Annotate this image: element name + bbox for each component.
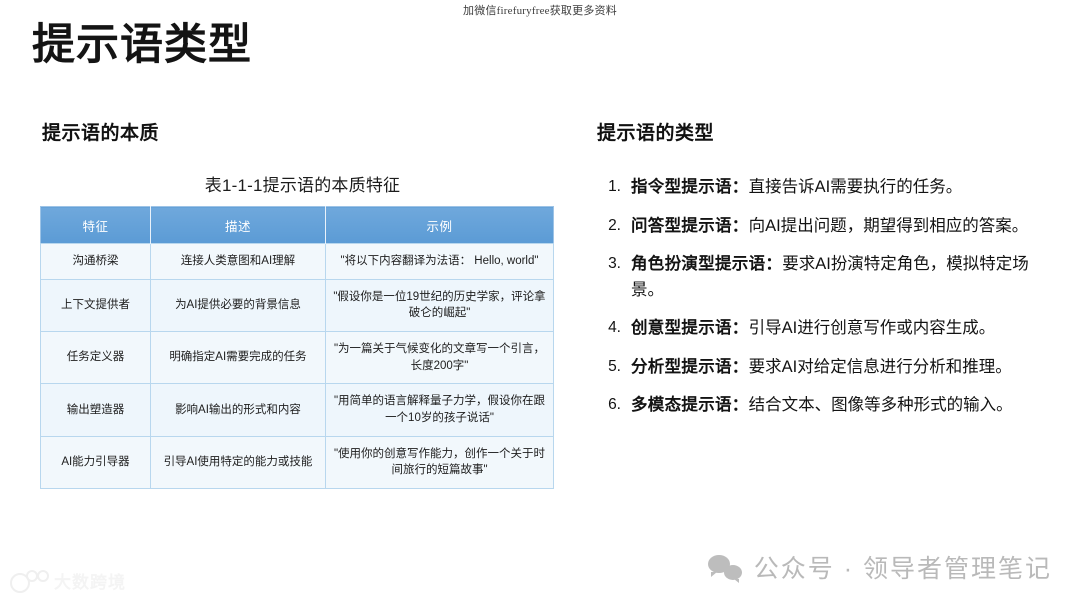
table-row: 输出塑造器 影响AI输出的形式和内容 "用简单的语言解释量子力学，假设你在跟一个… xyxy=(41,384,554,436)
footer-brand: 公众号 · 领导者管理笔记 xyxy=(708,549,1052,585)
list-item-term: 多模态提示语： xyxy=(631,396,749,414)
cell-example: "为一篇关于气候变化的文章写一个引言，长度200字" xyxy=(326,332,554,384)
table-caption: 表1-1-1提示语的本质特征 xyxy=(40,171,565,196)
cell-description: 影响AI输出的形式和内容 xyxy=(151,384,326,436)
wechat-icon xyxy=(708,554,742,580)
prompt-type-list: 1.指令型提示语：直接告诉AI需要执行的任务。 2.问答型提示语：向AI提出问题… xyxy=(595,175,1055,419)
list-item-term: 问答型提示语： xyxy=(631,217,749,235)
footer-brand-text: 公众号 · 领导者管理笔记 xyxy=(754,549,1052,585)
list-item-desc: 向AI提出问题，期望得到相应的答案。 xyxy=(749,217,1029,235)
table-header-row: 特征 描述 示例 xyxy=(41,207,554,244)
cell-description: 为AI提供必要的背景信息 xyxy=(151,279,326,331)
column-header-description: 描述 xyxy=(151,207,326,244)
list-item: 1.指令型提示语：直接告诉AI需要执行的任务。 xyxy=(595,175,1055,201)
table-row: AI能力引导器 引导AI使用特定的能力或技能 "使用你的创意写作能力，创作一个关… xyxy=(41,436,554,488)
list-item-desc: 要求AI对给定信息进行分析和推理。 xyxy=(749,358,1012,376)
cell-feature: 上下文提供者 xyxy=(41,279,151,331)
list-item-desc: 直接告诉AI需要执行的任务。 xyxy=(749,178,963,196)
table-row: 沟通桥梁 连接人类意图和AI理解 "将以下内容翻译为法语： Hello, wor… xyxy=(41,244,554,280)
list-item-number: 3. xyxy=(595,252,621,276)
column-header-feature: 特征 xyxy=(41,207,151,244)
list-item-number: 5. xyxy=(595,355,621,379)
left-column: 提示语的本质 表1-1-1提示语的本质特征 特征 描述 示例 沟通桥梁 连接人类… xyxy=(40,118,565,489)
cell-feature: 任务定义器 xyxy=(41,332,151,384)
list-item-number: 1. xyxy=(595,175,621,199)
cell-example: "将以下内容翻译为法语： Hello, world" xyxy=(326,244,554,280)
list-item-term: 指令型提示语： xyxy=(631,178,749,196)
cell-example: "假设你是一位19世纪的历史学家，评论拿破仑的崛起" xyxy=(326,279,554,331)
list-item: 3.角色扮演型提示语：要求AI扮演特定角色，模拟特定场景。 xyxy=(595,252,1055,303)
list-item-number: 6. xyxy=(595,393,621,417)
list-item-desc: 结合文本、图像等多种形式的输入。 xyxy=(749,396,1013,414)
essence-features-table: 特征 描述 示例 沟通桥梁 连接人类意图和AI理解 "将以下内容翻译为法语： H… xyxy=(40,206,554,489)
list-item: 2.问答型提示语：向AI提出问题，期望得到相应的答案。 xyxy=(595,214,1055,240)
cell-feature: 输出塑造器 xyxy=(41,384,151,436)
list-item: 4.创意型提示语：引导AI进行创意写作或内容生成。 xyxy=(595,316,1055,342)
left-section-heading: 提示语的本质 xyxy=(42,118,565,145)
list-item-term: 创意型提示语： xyxy=(631,319,749,337)
cell-description: 明确指定AI需要完成的任务 xyxy=(151,332,326,384)
table-row: 任务定义器 明确指定AI需要完成的任务 "为一篇关于气候变化的文章写一个引言，长… xyxy=(41,332,554,384)
table-row: 上下文提供者 为AI提供必要的背景信息 "假设你是一位19世纪的历史学家，评论拿… xyxy=(41,279,554,331)
list-item-term: 角色扮演型提示语： xyxy=(631,255,782,273)
cell-example: "用简单的语言解释量子力学，假设你在跟一个10岁的孩子说话" xyxy=(326,384,554,436)
cell-feature: 沟通桥梁 xyxy=(41,244,151,280)
dashukuajing-logo-icon xyxy=(10,570,48,592)
list-item: 5.分析型提示语：要求AI对给定信息进行分析和推理。 xyxy=(595,355,1055,381)
list-item: 6.多模态提示语：结合文本、图像等多种形式的输入。 xyxy=(595,393,1055,419)
list-item-term: 分析型提示语： xyxy=(631,358,749,376)
page-title: 提示语类型 xyxy=(32,22,252,69)
column-header-example: 示例 xyxy=(326,207,554,244)
corner-watermark-logo: 大数跨境 xyxy=(10,568,126,593)
list-item-desc: 引导AI进行创意写作或内容生成。 xyxy=(749,319,996,337)
right-section-heading: 提示语的类型 xyxy=(597,118,1055,145)
corner-logo-text: 大数跨境 xyxy=(54,568,126,593)
cell-description: 引导AI使用特定的能力或技能 xyxy=(151,436,326,488)
right-column: 提示语的类型 1.指令型提示语：直接告诉AI需要执行的任务。 2.问答型提示语：… xyxy=(595,118,1055,432)
cell-example: "使用你的创意写作能力，创作一个关于时间旅行的短篇故事" xyxy=(326,436,554,488)
top-watermark-text: 加微信firefuryfree获取更多资料 xyxy=(0,2,1080,18)
cell-feature: AI能力引导器 xyxy=(41,436,151,488)
list-item-number: 4. xyxy=(595,316,621,340)
list-item-number: 2. xyxy=(595,214,621,238)
cell-description: 连接人类意图和AI理解 xyxy=(151,244,326,280)
